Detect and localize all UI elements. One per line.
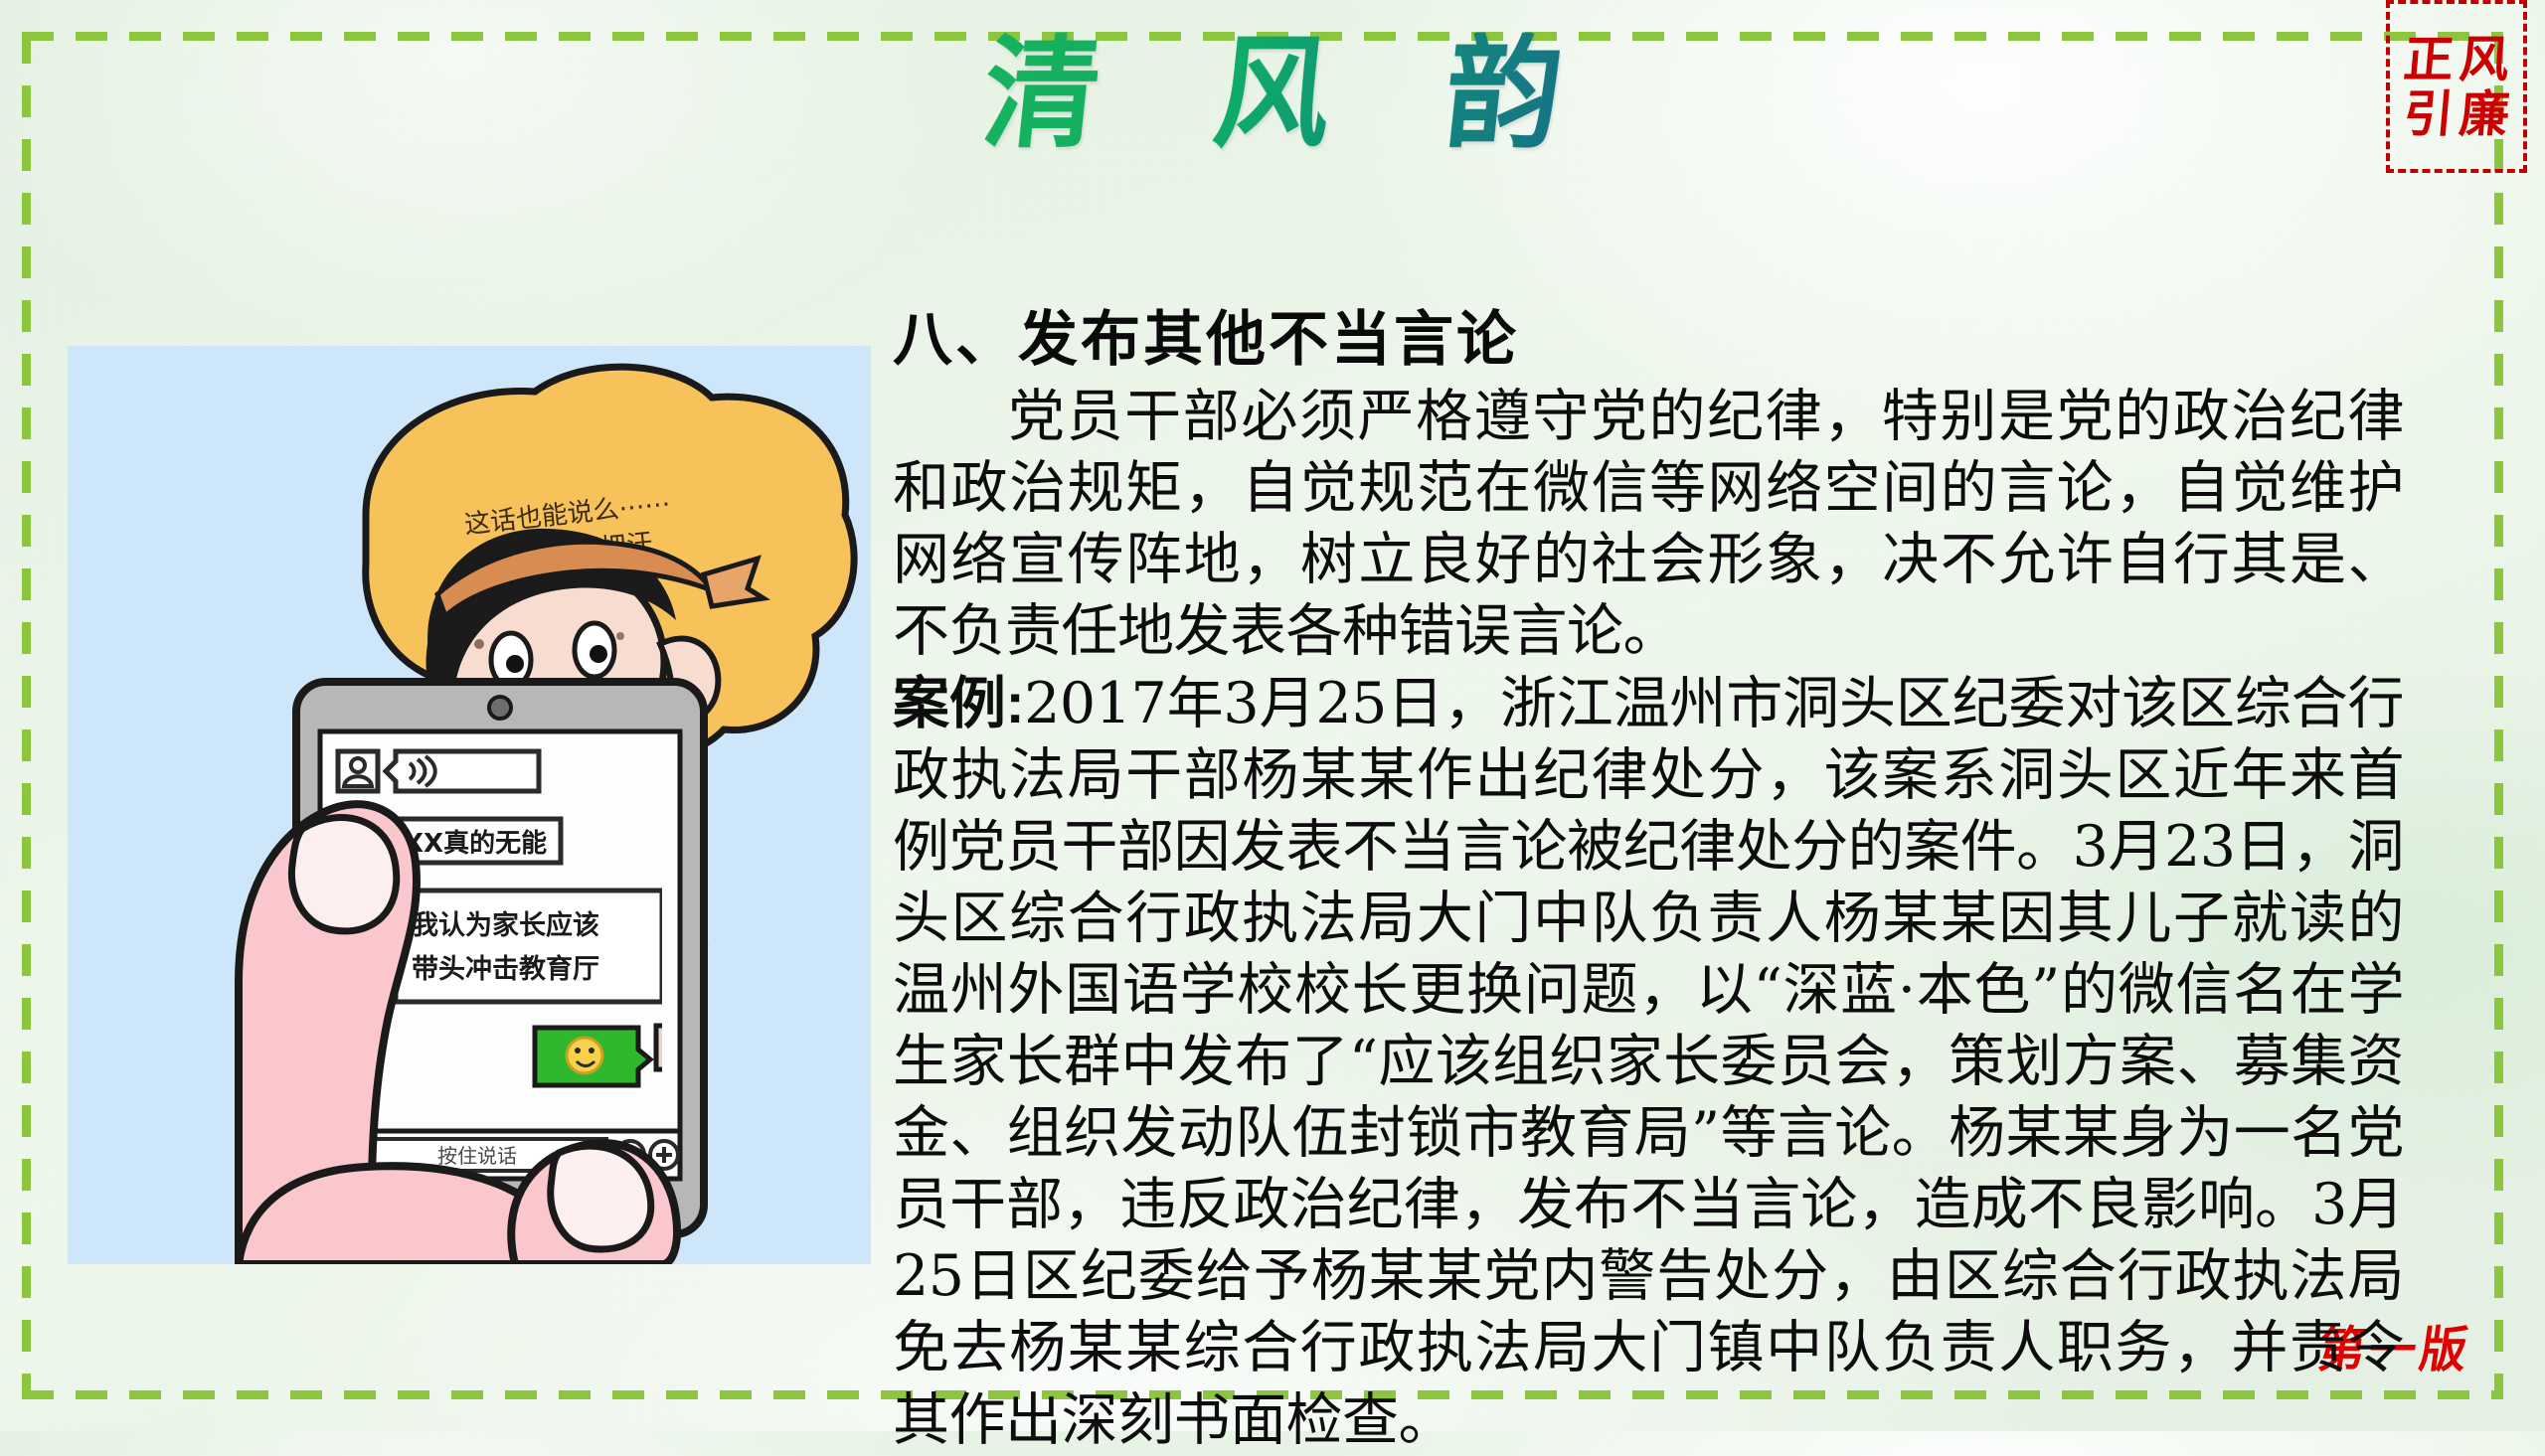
article-body: 八、发布其他不当言论 党员干部必须严格遵守党的纪律，特别是党的政治纪律和政治规矩… [893, 306, 2404, 1456]
masthead: 清 风 韵 [0, 14, 2545, 173]
seal-line-2: 引廉 [2396, 87, 2518, 140]
frame-left-edge [22, 32, 31, 1399]
chat-message-3-line-2: 带头冲击教育厅 [412, 953, 599, 985]
chat-message-2-text: XX真的无能 [404, 828, 547, 859]
seal-line-1: 正风 [2396, 33, 2518, 85]
page-title: 清 风 韵 [939, 33, 1606, 155]
case-text: 2017年3月25日，浙江温州市洞头区纪委对该区综合行政执法局干部杨某某作出纪律… [893, 671, 2404, 1453]
illustration-cartoon: 这话也能说么⋯⋯ 真是替他捏把汗 [68, 346, 871, 1264]
status-badge-seal: 正风 引廉 [2386, 0, 2527, 173]
chat-input-placeholder: 按住说话 [437, 1144, 517, 1168]
article-paragraph-1: 党员干部必须严格遵守党的纪律，特别是党的政治纪律和政治规矩，自觉规范在微信等网络… [893, 381, 2404, 667]
article-case-paragraph: 案例:2017年3月25日，浙江温州市洞头区纪委对该区综合行政执法局干部杨某某作… [893, 668, 2404, 1456]
frame-right-edge [2494, 32, 2503, 1399]
article-heading: 八、发布其他不当言论 [893, 306, 2404, 373]
case-label: 案例: [893, 672, 1024, 735]
chat-message-3-line-1: 我认为家长应该 [412, 909, 599, 941]
